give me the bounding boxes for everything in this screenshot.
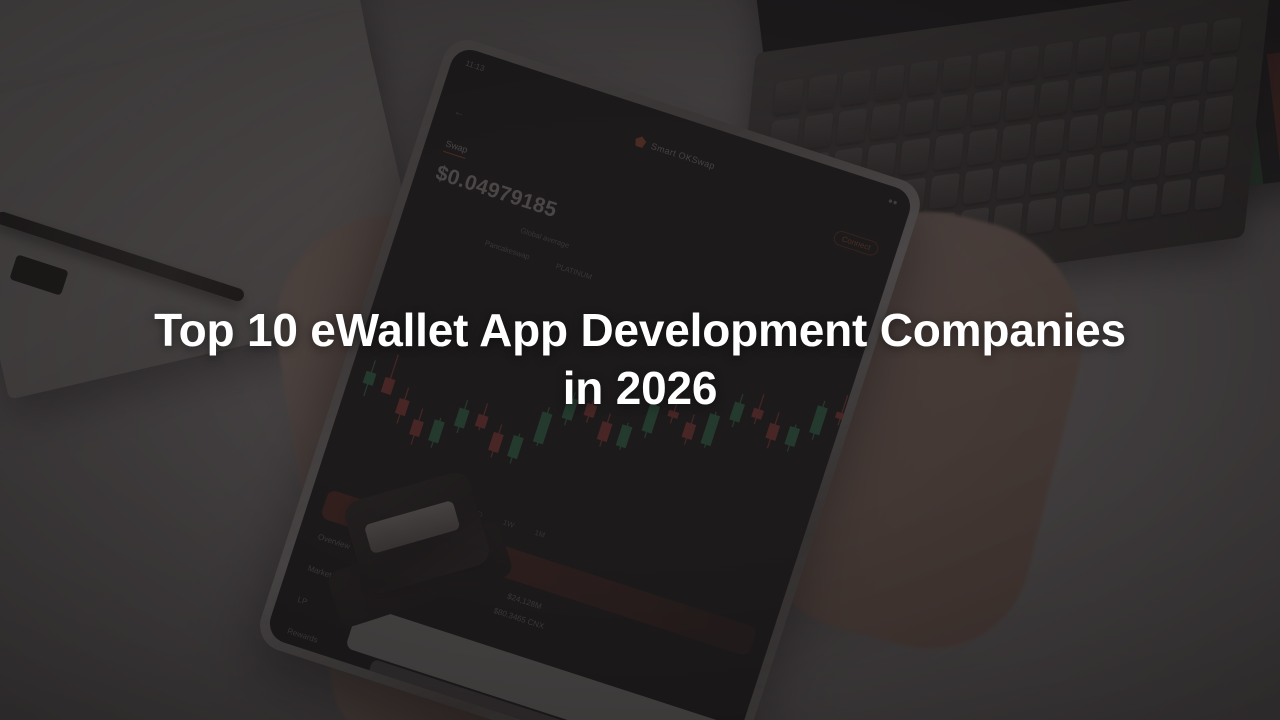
title-container: Top 10 eWallet App Development Companies… xyxy=(0,0,1280,720)
page-title: Top 10 eWallet App Development Companies… xyxy=(140,302,1140,418)
hero-banner: 11:13 ●● Smart OKSwap ← Connect Swap $0.… xyxy=(0,0,1280,720)
